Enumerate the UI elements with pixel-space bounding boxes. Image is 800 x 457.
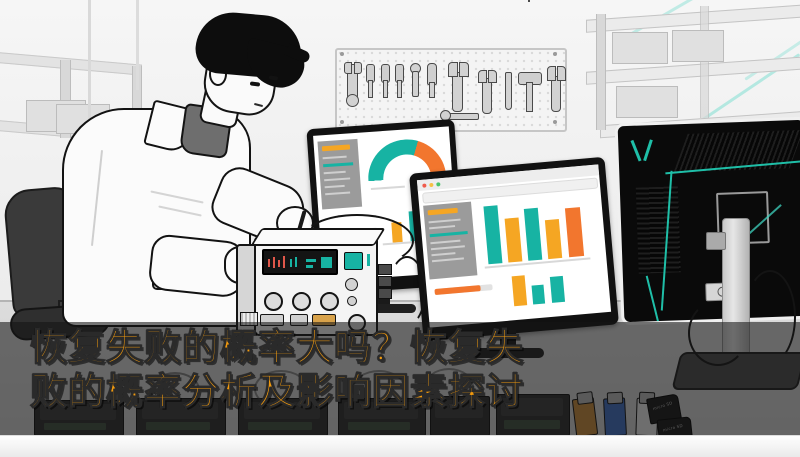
- wrench-icon: [354, 62, 362, 74]
- open-end-wrench-icon: [448, 62, 458, 77]
- pegboard-screw: [553, 120, 557, 124]
- illustration-banner: micro SD micro SD 恢复失败的概率大吗？恢复失 败的概率分析及影…: [0, 0, 800, 457]
- waveform-trace: [268, 259, 270, 267]
- pick-icon: [505, 72, 512, 110]
- bar: [532, 285, 546, 305]
- instrument-knob[interactable]: [347, 296, 357, 306]
- bar: [505, 217, 523, 262]
- open-end-wrench-icon: [482, 78, 492, 114]
- waveform-trace: [278, 260, 280, 267]
- progress-fill: [434, 285, 480, 295]
- bar: [483, 205, 502, 264]
- waveform-trace: [290, 259, 292, 267]
- instrument-knob[interactable]: [292, 292, 311, 311]
- monitor-brand-logo: [643, 139, 653, 161]
- mallet-icon: [526, 82, 533, 112]
- bar: [545, 219, 562, 259]
- bar: [524, 208, 542, 261]
- nut-driver-icon: [412, 71, 419, 97]
- monitor-accent-trim: [646, 276, 660, 325]
- gauge-baseline: [371, 186, 405, 190]
- monitor-brand-logo: [630, 140, 641, 162]
- storage-box: [672, 30, 724, 62]
- pegboard-screw: [340, 120, 344, 124]
- open-end-wrench-icon: [478, 70, 487, 83]
- waveform-trace: [273, 257, 275, 268]
- open-end-wrench-icon: [547, 66, 556, 81]
- cable: [388, 256, 426, 326]
- monitor-vent: [636, 186, 681, 273]
- screwdriver-icon: [368, 80, 373, 98]
- cable: [300, 214, 414, 268]
- bar: [550, 276, 565, 303]
- shelf-post: [596, 14, 606, 130]
- bar: [512, 275, 528, 306]
- wrench-icon: [344, 62, 352, 74]
- instrument-knob[interactable]: [345, 278, 358, 291]
- screwdriver-icon: [397, 80, 402, 98]
- pegboard-screw: [340, 52, 344, 56]
- wall-divider: [136, 0, 139, 90]
- open-end-wrench-icon: [528, 0, 530, 2]
- screwdriver-icon: [383, 80, 388, 98]
- open-end-wrench-icon: [557, 66, 566, 81]
- screwdriver-icon: [429, 82, 435, 98]
- readout-bar: [306, 265, 313, 268]
- waveform-trace: [283, 256, 285, 268]
- bar: [565, 207, 584, 257]
- center-monitor-screen[interactable]: [417, 164, 611, 327]
- page-title: 恢复失败的概率大吗？恢复失 败的概率分析及影响因素探讨: [30, 326, 770, 414]
- wall-divider: [88, 0, 91, 120]
- wrench-icon: [346, 94, 359, 107]
- instrument-knob[interactable]: [320, 292, 339, 311]
- desk-front-edge: [0, 435, 800, 457]
- shelf-post: [700, 6, 709, 118]
- open-end-wrench-icon: [459, 62, 469, 77]
- open-end-wrench-icon: [452, 72, 463, 112]
- waveform-trace: [295, 257, 297, 267]
- storage-box: [612, 32, 668, 64]
- open-end-wrench-icon: [488, 70, 497, 83]
- storage-box: [616, 86, 678, 118]
- open-end-wrench-icon: [551, 76, 561, 112]
- instrument-knob[interactable]: [264, 292, 283, 311]
- right-monitor-stand-connector: [706, 232, 726, 250]
- pegboard-screw: [553, 52, 557, 56]
